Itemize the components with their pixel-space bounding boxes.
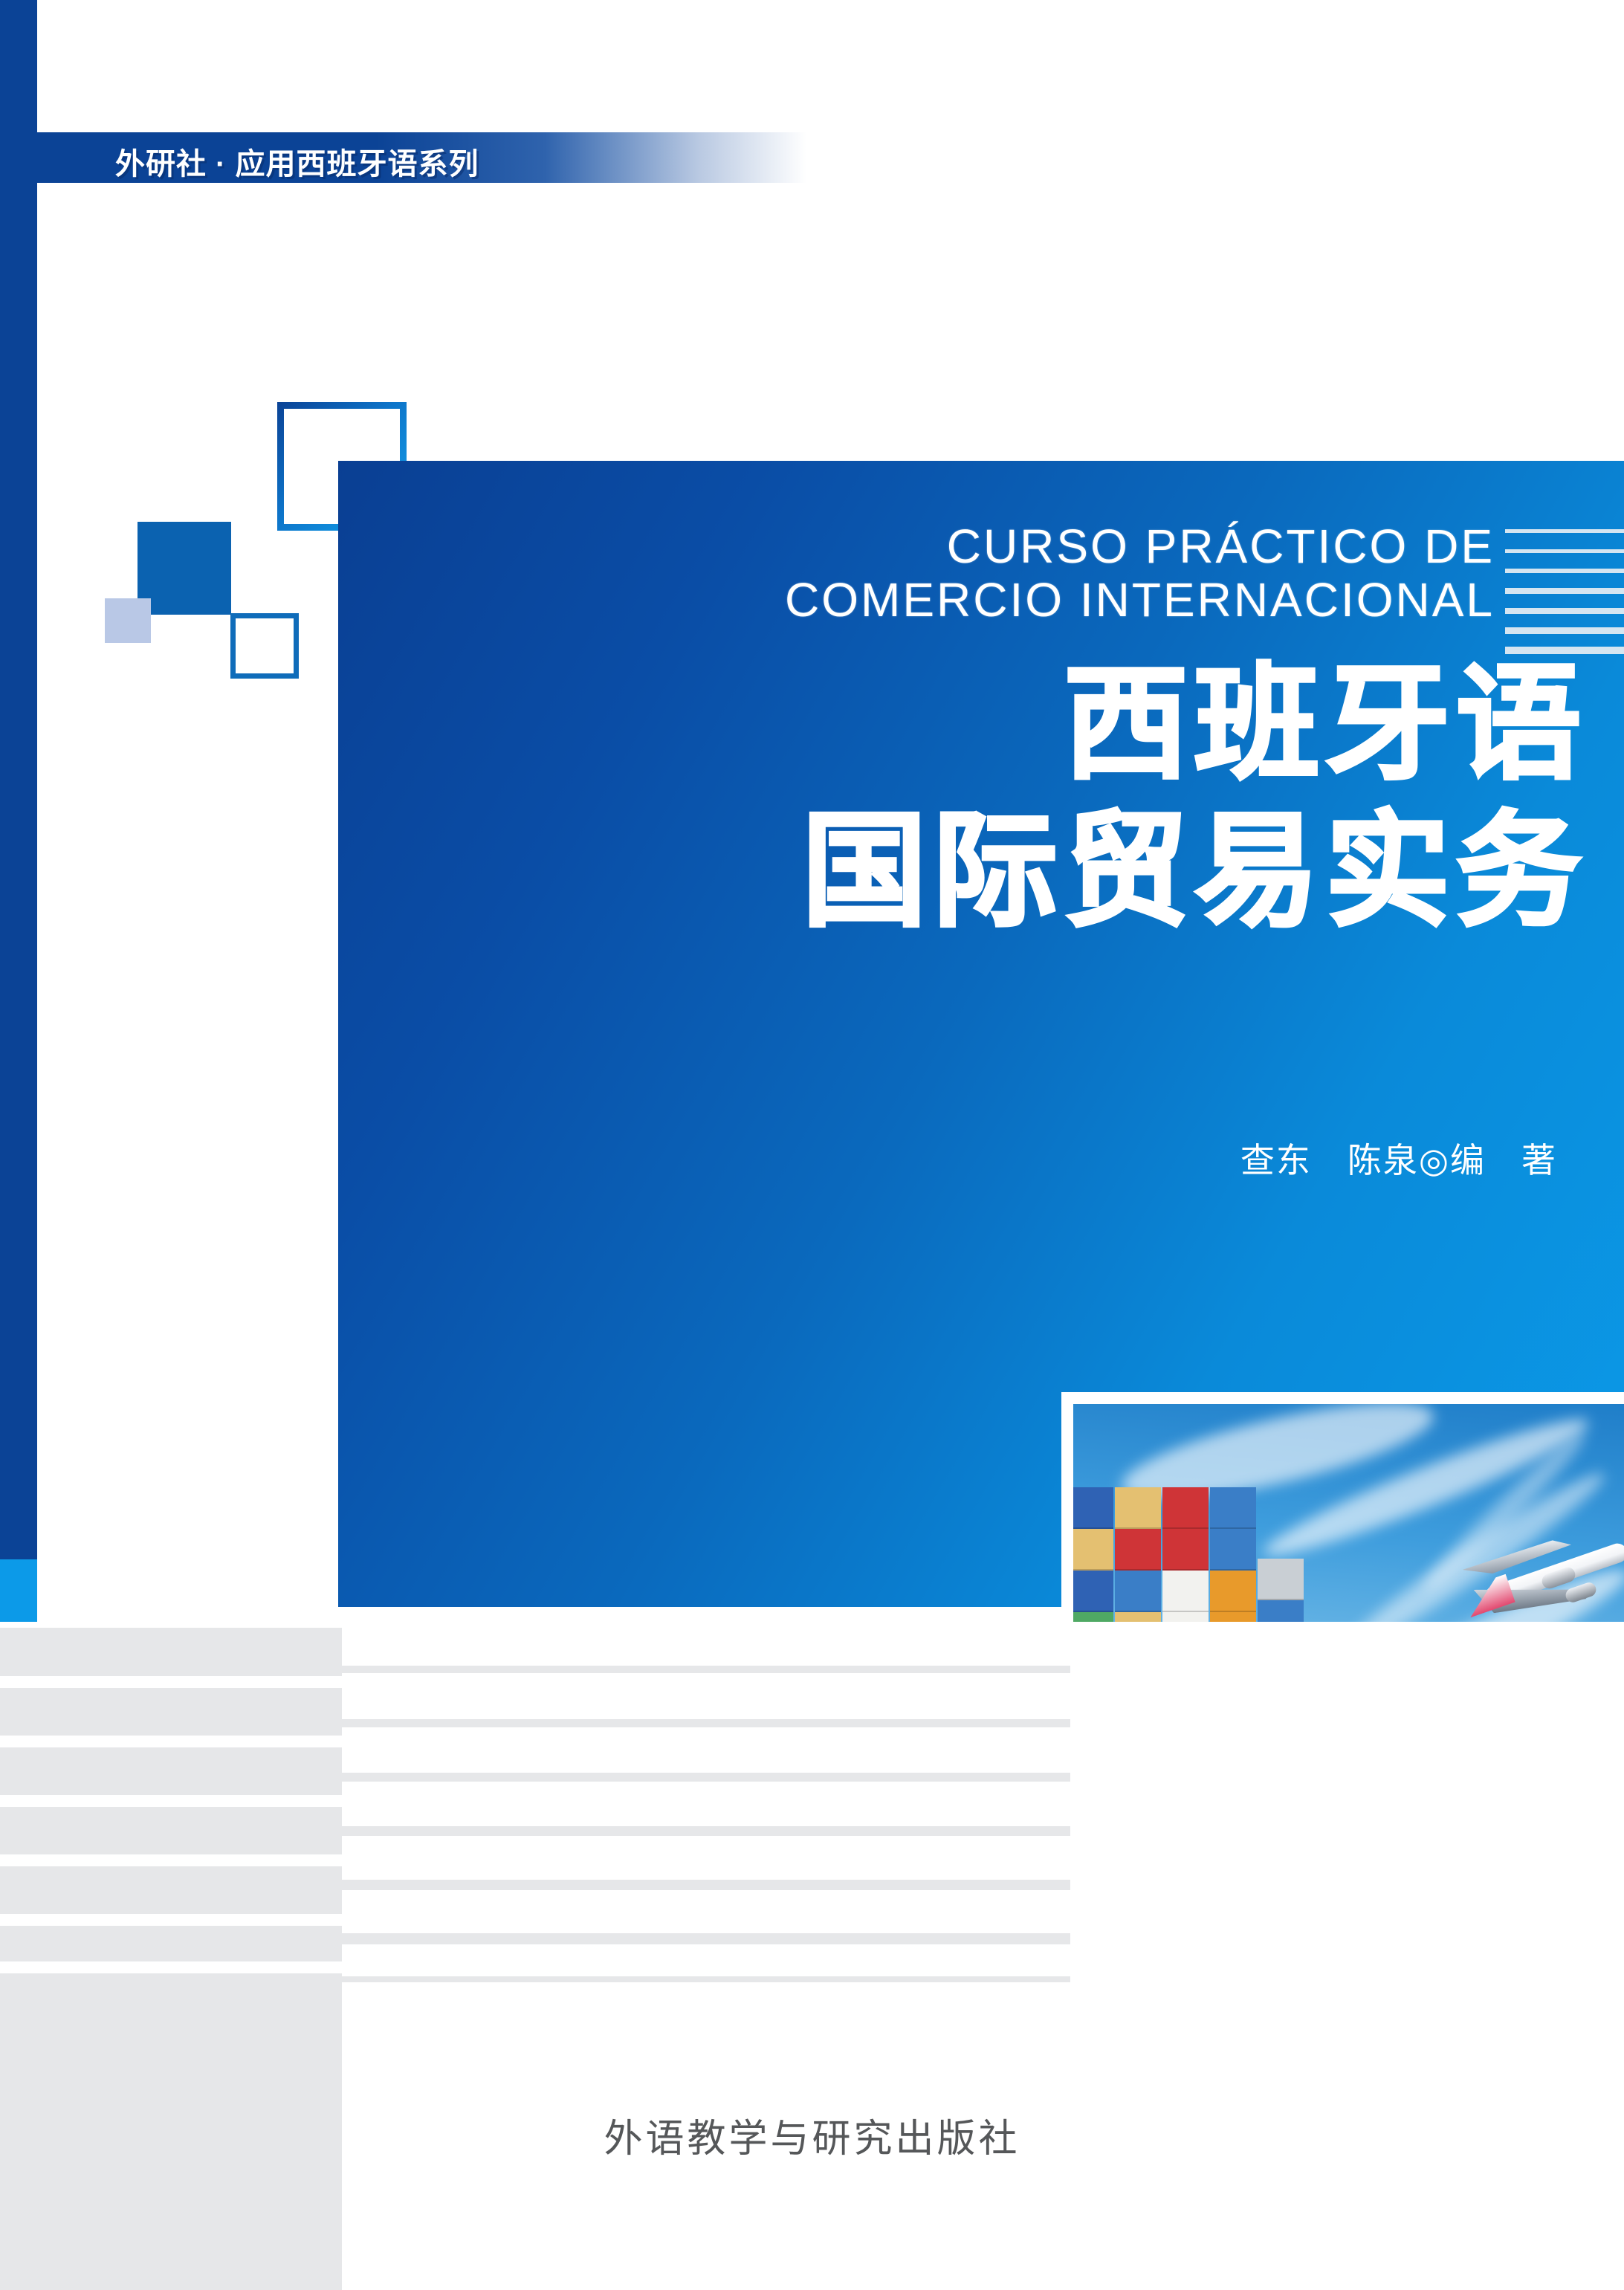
bottom-gray-gap: [0, 1914, 342, 1926]
square-pale-icon: [105, 598, 151, 643]
authors-line: 查东 陈泉◎编 著: [338, 1133, 1557, 1183]
square-solid-icon: [138, 522, 231, 615]
bottom-rule-line: [342, 1976, 1070, 1982]
bottom-gray-gap: [0, 1795, 342, 1807]
publisher-name: 外语教学与研究出版社: [0, 2107, 1624, 2163]
bottom-gray-column: [0, 1622, 342, 2290]
bottom-gray-gap: [0, 1961, 342, 1973]
bottom-rule-line: [342, 1880, 1070, 1890]
rule-line: [1505, 569, 1624, 573]
rule-line: [1505, 627, 1624, 634]
rule-line: [1505, 529, 1624, 533]
rule-line: [1505, 608, 1624, 614]
left-brand-bar-accent: [0, 1559, 37, 1622]
square-outline-small-icon: [230, 613, 299, 679]
page-title-line1: 西班牙语: [338, 650, 1587, 798]
bottom-rule-line: [342, 1826, 1070, 1836]
spanish-subtitle: CURSO PRÁCTICO DE COMERCIO INTERNACIONAL: [338, 520, 1495, 627]
spanish-subtitle-line2: COMERCIO INTERNACIONAL: [338, 574, 1495, 627]
bottom-gray-gap: [0, 1676, 342, 1688]
bottom-gray-gap: [0, 1622, 342, 1628]
bottom-rule-line: [342, 1933, 1070, 1944]
page-title-line2: 国际贸易实务: [338, 798, 1587, 945]
bottom-rule-line: [342, 1719, 1070, 1727]
spanish-subtitle-line1: CURSO PRÁCTICO DE: [947, 520, 1495, 573]
bottom-pattern: [0, 1622, 1624, 2290]
bottom-rule-line: [342, 1666, 1070, 1673]
series-band-label: 外研社 · 应用西班牙语系列: [115, 140, 479, 183]
bottom-gray-gap: [0, 1854, 342, 1866]
rule-line: [1505, 549, 1624, 553]
decorative-rule-stack: [1505, 529, 1624, 654]
left-brand-bar: [0, 0, 37, 1621]
page-title: 西班牙语 国际贸易实务: [338, 650, 1587, 945]
bottom-gray-gap: [0, 1736, 342, 1747]
bottom-rule-line: [342, 1773, 1070, 1782]
rule-line: [1505, 588, 1624, 594]
